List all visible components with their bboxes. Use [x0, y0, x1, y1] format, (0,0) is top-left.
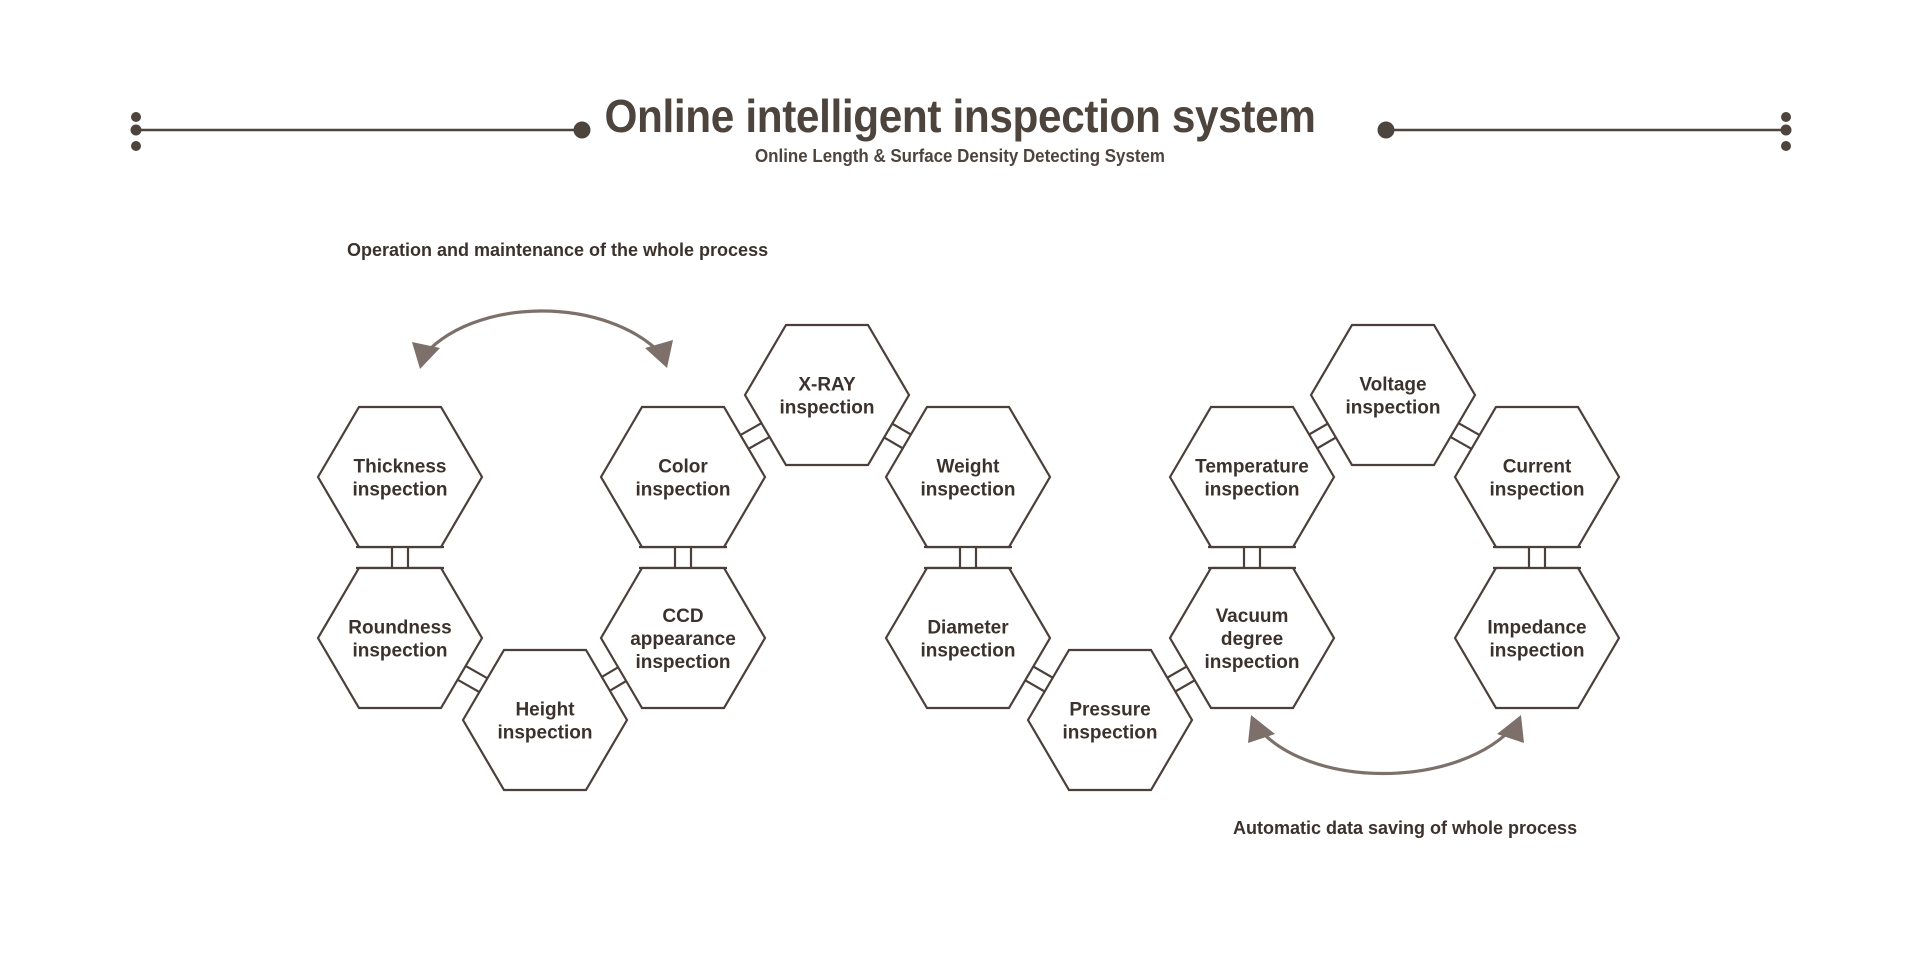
- hex-label-temperature: inspection: [1204, 480, 1299, 501]
- data-saving-arrow: [1248, 715, 1524, 774]
- hex-label-vacuum: Vacuum: [1216, 606, 1289, 627]
- hex-label-xray: inspection: [779, 398, 874, 419]
- hex-label-ccd: appearance: [630, 629, 736, 650]
- hex-label-xray: X-RAY: [798, 375, 856, 396]
- hex-node-ccd[interactable]: CCDappearanceinspection: [601, 568, 765, 708]
- connector-bracket-right: [1545, 547, 1581, 568]
- annotation-bottom-right: Automatic data saving of whole process: [1233, 818, 1577, 838]
- connector-bracket-right: [976, 547, 1012, 568]
- page-header: Online intelligent inspection system Onl…: [0, 0, 1920, 190]
- connector-thickness-roundness: [356, 547, 444, 568]
- hex-label-roundness: inspection: [352, 641, 447, 662]
- hex-node-weight[interactable]: Weightinspection: [886, 407, 1050, 547]
- hex-label-pressure: inspection: [1062, 723, 1157, 744]
- hex-label-temperature: Temperature: [1195, 457, 1309, 478]
- hex-label-impedance: Impedance: [1487, 618, 1586, 639]
- hex-label-voltage: Voltage: [1359, 375, 1426, 396]
- connector-current-impedance: [1493, 547, 1581, 568]
- hex-label-current: Current: [1503, 457, 1572, 478]
- hex-node-roundness[interactable]: Roundnessinspection: [318, 568, 482, 708]
- hex-node-thickness[interactable]: Thicknessinspection: [318, 407, 482, 547]
- hex-label-thickness: inspection: [352, 480, 447, 501]
- hex-node-diameter[interactable]: Diameterinspection: [886, 568, 1050, 708]
- hex-node-temperature[interactable]: Temperatureinspection: [1170, 407, 1334, 547]
- hex-label-vacuum: degree: [1221, 629, 1283, 650]
- hex-node-current[interactable]: Currentinspection: [1455, 407, 1619, 547]
- hex-node-pressure[interactable]: Pressureinspection: [1028, 650, 1192, 790]
- hex-label-height: inspection: [497, 723, 592, 744]
- hex-node-color[interactable]: Colorinspection: [601, 407, 765, 547]
- honeycomb-svg: ThicknessinspectionRoundnessinspectionHe…: [0, 190, 1920, 958]
- connector-bracket-right: [1260, 547, 1296, 568]
- hex-label-current: inspection: [1489, 480, 1584, 501]
- hex-node-vacuum[interactable]: Vacuumdegreeinspection: [1170, 568, 1334, 708]
- hex-label-color: Color: [658, 457, 708, 478]
- connector-bracket-left: [639, 547, 675, 568]
- header-rule-left: [131, 112, 591, 151]
- header-rule-right: [1378, 112, 1792, 151]
- operation-maintenance-arrow: [412, 311, 673, 369]
- connector-bracket-left: [1493, 547, 1529, 568]
- hex-label-color: inspection: [635, 480, 730, 501]
- hex-label-voltage: inspection: [1345, 398, 1440, 419]
- connector-weight-diameter: [924, 547, 1012, 568]
- connector-bracket-right: [691, 547, 727, 568]
- connector-color-ccd: [639, 547, 727, 568]
- connector-temperature-vacuum: [1208, 547, 1296, 568]
- hex-label-impedance: inspection: [1489, 641, 1584, 662]
- hex-label-weight: Weight: [937, 457, 1001, 478]
- hex-label-vacuum: inspection: [1204, 652, 1299, 673]
- header-rule-decoration: [0, 0, 1920, 190]
- hexagon-layer: ThicknessinspectionRoundnessinspectionHe…: [318, 325, 1619, 790]
- connector-bracket-right: [408, 547, 444, 568]
- hex-node-voltage[interactable]: Voltageinspection: [1311, 325, 1475, 465]
- connector-bracket-left: [1208, 547, 1244, 568]
- hex-label-ccd: CCD: [662, 606, 703, 627]
- annotation-top-left: Operation and maintenance of the whole p…: [347, 240, 768, 260]
- hex-label-height: Height: [515, 700, 575, 721]
- hex-node-xray[interactable]: X-RAYinspection: [745, 325, 909, 465]
- hex-label-roundness: Roundness: [348, 618, 451, 639]
- connector-bracket-left: [356, 547, 392, 568]
- connector-bracket-left: [924, 547, 960, 568]
- hex-label-diameter: inspection: [920, 641, 1015, 662]
- hex-label-diameter: Diameter: [927, 618, 1009, 639]
- hex-label-ccd: inspection: [635, 652, 730, 673]
- hex-node-impedance[interactable]: Impedanceinspection: [1455, 568, 1619, 708]
- hex-label-pressure: Pressure: [1069, 700, 1150, 721]
- hex-label-weight: inspection: [920, 480, 1015, 501]
- hex-label-thickness: Thickness: [354, 457, 447, 478]
- hex-node-height[interactable]: Heightinspection: [463, 650, 627, 790]
- inspection-honeycomb-diagram: ThicknessinspectionRoundnessinspectionHe…: [0, 190, 1920, 958]
